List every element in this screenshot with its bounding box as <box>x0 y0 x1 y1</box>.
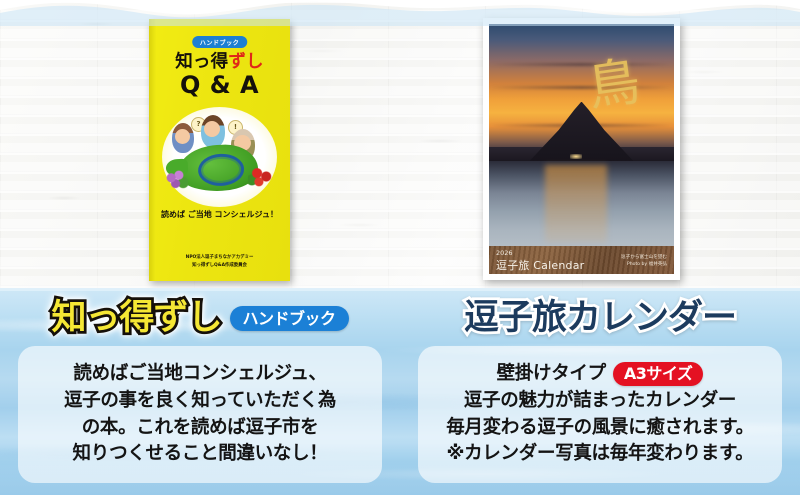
illustration-face-center <box>204 121 220 137</box>
calendar-year: 2026 <box>496 249 513 257</box>
handbook-type-badge: ハンドブック <box>230 306 349 332</box>
publisher-line-2: 知っ得ずしQ&A作成委員会 <box>149 262 290 269</box>
calendar-size-badge: A3サイズ <box>613 362 704 386</box>
handbook-desc-line-3: の本。これを読めば逗子市を <box>82 415 319 442</box>
handbook-column: 知っ得ずし ハンドブック 読めばご当地コンシェルジュ、 逗子の事を良く知っていた… <box>0 288 400 495</box>
calendar-heading-row: 逗子旅カレンダー <box>400 301 800 336</box>
purple-flower-icon <box>164 169 188 191</box>
promo-banner: ハンドブック 知っ得ずし Q & A ? ! 読めば ご当地 コンシェルジュ！ … <box>0 0 800 495</box>
book-cover-tagline: 読めば ご当地 コンシェルジュ！ <box>149 209 290 220</box>
publisher-line-1: NPO法人逗子まちなかアカデミー <box>149 254 290 261</box>
product-descriptions: 知っ得ずし ハンドブック 読めばご当地コンシェルジュ、 逗子の事を良く知っていた… <box>0 288 800 495</box>
shore-light-glow <box>570 154 582 159</box>
handbook-desc-line-1: 読めばご当地コンシェルジュ、 <box>73 361 326 388</box>
photo-by: Photo by 福井英弘 <box>621 261 667 268</box>
handbook-desc-line-4: 知りつくせること間違いなし！ <box>73 441 328 468</box>
calendar-photo-credit: 逗子から富士山を望む Photo by 福井英弘 <box>621 254 667 269</box>
book-cover-publisher: NPO法人逗子まちなかアカデミー 知っ得ずしQ&A作成委員会 <box>149 254 290 269</box>
calendar-title-heading: 逗子旅カレンダー <box>464 301 736 336</box>
wave-edge-divider <box>0 0 800 26</box>
calendar-wood-footer: 2026 逗子旅 Calendar 逗子から富士山を望む Photo by 福井… <box>489 246 674 274</box>
book-cover-badge: ハンドブック <box>192 36 248 48</box>
book-cover-title-black: 知っ得 <box>175 52 228 72</box>
book-cover-title-red: ずし <box>228 52 263 72</box>
illustration-face-left <box>175 129 190 144</box>
brick-wall-background <box>0 0 800 300</box>
calendar-lead-row: 壁掛けタイプ A3サイズ <box>497 361 704 388</box>
photo-caption: 逗子から富士山を望む <box>621 254 667 261</box>
book-cover-illustration: ? ! <box>162 107 277 207</box>
red-flower-icon <box>248 165 274 189</box>
book-cover-title: 知っ得ずし <box>149 48 290 73</box>
handbook-description-card: 読めばご当地コンシェルジュ、 逗子の事を良く知っていただく為 の本。これを読めば… <box>18 346 382 483</box>
handbook-title: 知っ得ずし <box>51 301 221 336</box>
wall-texture-speckles <box>0 0 800 300</box>
calendar-desc-line-2: 毎月変わる逗子の風景に癒されます。 <box>446 415 754 442</box>
sunset-water-reflection <box>545 165 608 243</box>
handbook-desc-line-2: 逗子の事を良く知っていただく為 <box>64 388 336 415</box>
calendar-footnote: ※カレンダー写真は毎年変わります。 <box>446 441 753 468</box>
handbook-heading-row: 知っ得ずし ハンドブック <box>0 301 400 336</box>
calendar-desc-line-1: 逗子の魅力が詰まったカレンダー <box>464 388 736 415</box>
calendar-column: 逗子旅カレンダー 壁掛けタイプ A3サイズ 逗子の魅力が詰まったカレンダー 毎月… <box>400 288 800 495</box>
handbook-product-photo: ハンドブック 知っ得ずし Q & A ? ! 読めば ご当地 コンシェルジュ！ … <box>149 19 290 281</box>
calendar-title: 逗子旅 Calendar <box>496 257 584 273</box>
calendar-product-photo: 鳥 2026 逗子旅 Calendar 逗子から富士山を望む Photo by … <box>483 18 680 280</box>
book-cover-subtitle: Q & A <box>149 71 290 99</box>
calendar-type-text: 壁掛けタイプ <box>497 361 606 388</box>
calendar-cover-photo: 鳥 <box>489 24 674 252</box>
calendar-description-card: 壁掛けタイプ A3サイズ 逗子の魅力が詰まったカレンダー 毎月変わる逗子の風景に… <box>418 346 782 483</box>
